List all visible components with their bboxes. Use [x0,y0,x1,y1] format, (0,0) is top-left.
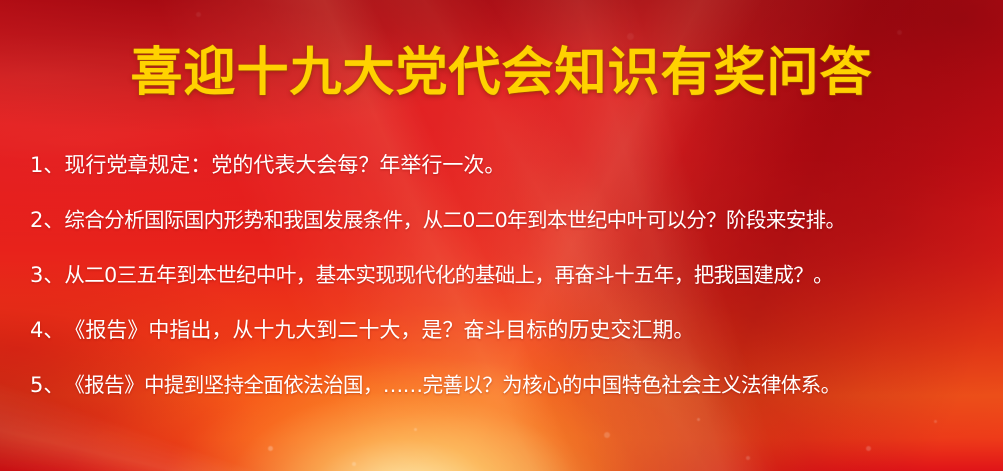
question-number: 1、 [30,138,64,193]
poster-content: 喜迎十九大党代会知识有奖问答 1、 现行党章规定：党的代表大会每？年举行一次。 … [0,0,1003,471]
question-text: 从二0三五年到本世纪中叶，基本实现现代化的基础上，再奋斗十五年，把我国建成？。 [64,248,833,303]
question-number: 5、 [30,358,64,413]
poster-canvas: 喜迎十九大党代会知识有奖问答 1、 现行党章规定：党的代表大会每？年举行一次。 … [0,0,1003,471]
question-item: 5、 《报告》中提到坚持全面依法治国，……完善以？为核心的中国特色社会主义法律体… [0,358,1003,413]
question-item: 4、 《报告》中指出，从十九大到二十大，是？奋斗目标的历史交汇期。 [0,303,1003,358]
question-item: 2、 综合分析国际国内形势和我国发展条件，从二0二0年到本世纪中叶可以分？阶段来… [0,193,1003,248]
question-text: 现行党章规定：党的代表大会每？年举行一次。 [64,138,505,193]
question-number: 3、 [30,248,64,303]
page-title: 喜迎十九大党代会知识有奖问答 [0,44,1003,102]
question-text: 《报告》中指出，从十九大到二十大，是？奋斗目标的历史交汇期。 [64,303,694,358]
question-list: 1、 现行党章规定：党的代表大会每？年举行一次。 2、 综合分析国际国内形势和我… [0,138,1003,413]
question-number: 2、 [30,193,64,248]
question-item: 1、 现行党章规定：党的代表大会每？年举行一次。 [0,138,1003,193]
question-text: 综合分析国际国内形势和我国发展条件，从二0二0年到本世纪中叶可以分？阶段来安排。 [64,193,845,248]
question-item: 3、 从二0三五年到本世纪中叶，基本实现现代化的基础上，再奋斗十五年，把我国建成… [0,248,1003,303]
question-text: 《报告》中提到坚持全面依法治国，……完善以？为核心的中国特色社会主义法律体系。 [64,358,840,413]
question-number: 4、 [30,303,64,358]
